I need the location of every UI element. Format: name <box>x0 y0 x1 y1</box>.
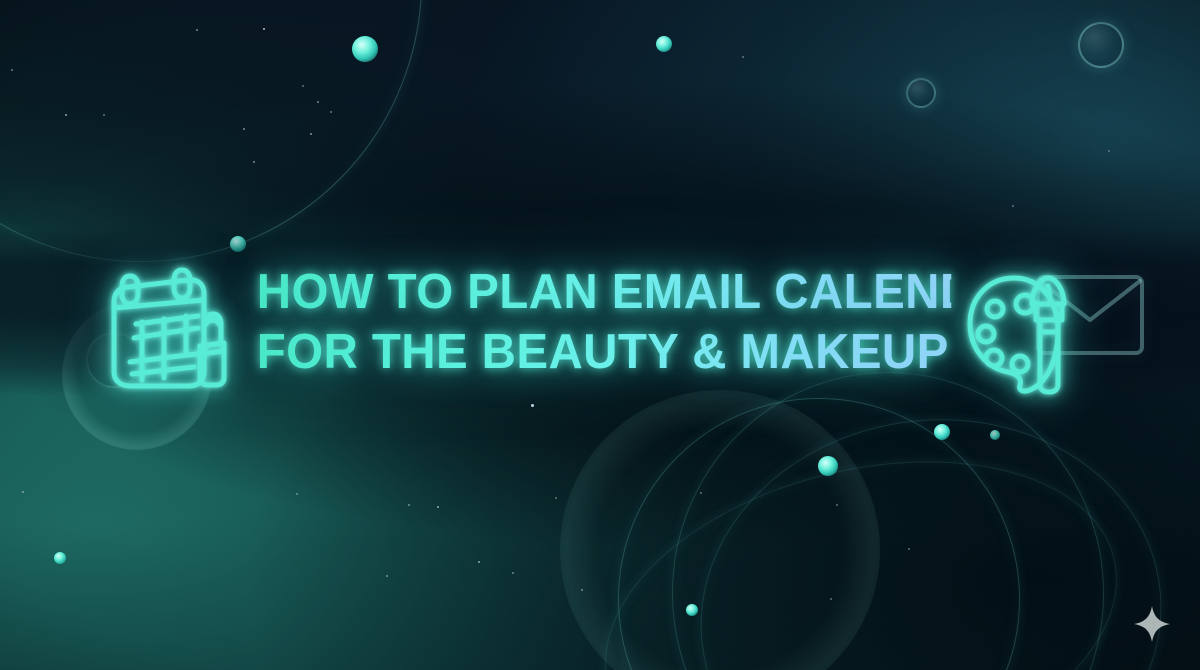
page-title: HOW TO PLAN EMAIL CALENDARS FOR THE BEAU… <box>246 262 962 382</box>
sparkle-icon <box>1132 604 1172 644</box>
title-line-1: HOW TO PLAN EMAIL CALENDARS <box>257 262 952 322</box>
palette-brush-icon <box>962 272 1078 396</box>
title-card: HOW TO PLAN EMAIL CALENDARS FOR THE BEAU… <box>0 0 1200 670</box>
calendar-lipstick-icon <box>100 262 232 398</box>
title-line-2: FOR THE BEAUTY & MAKEUP NICHE <box>257 322 952 382</box>
